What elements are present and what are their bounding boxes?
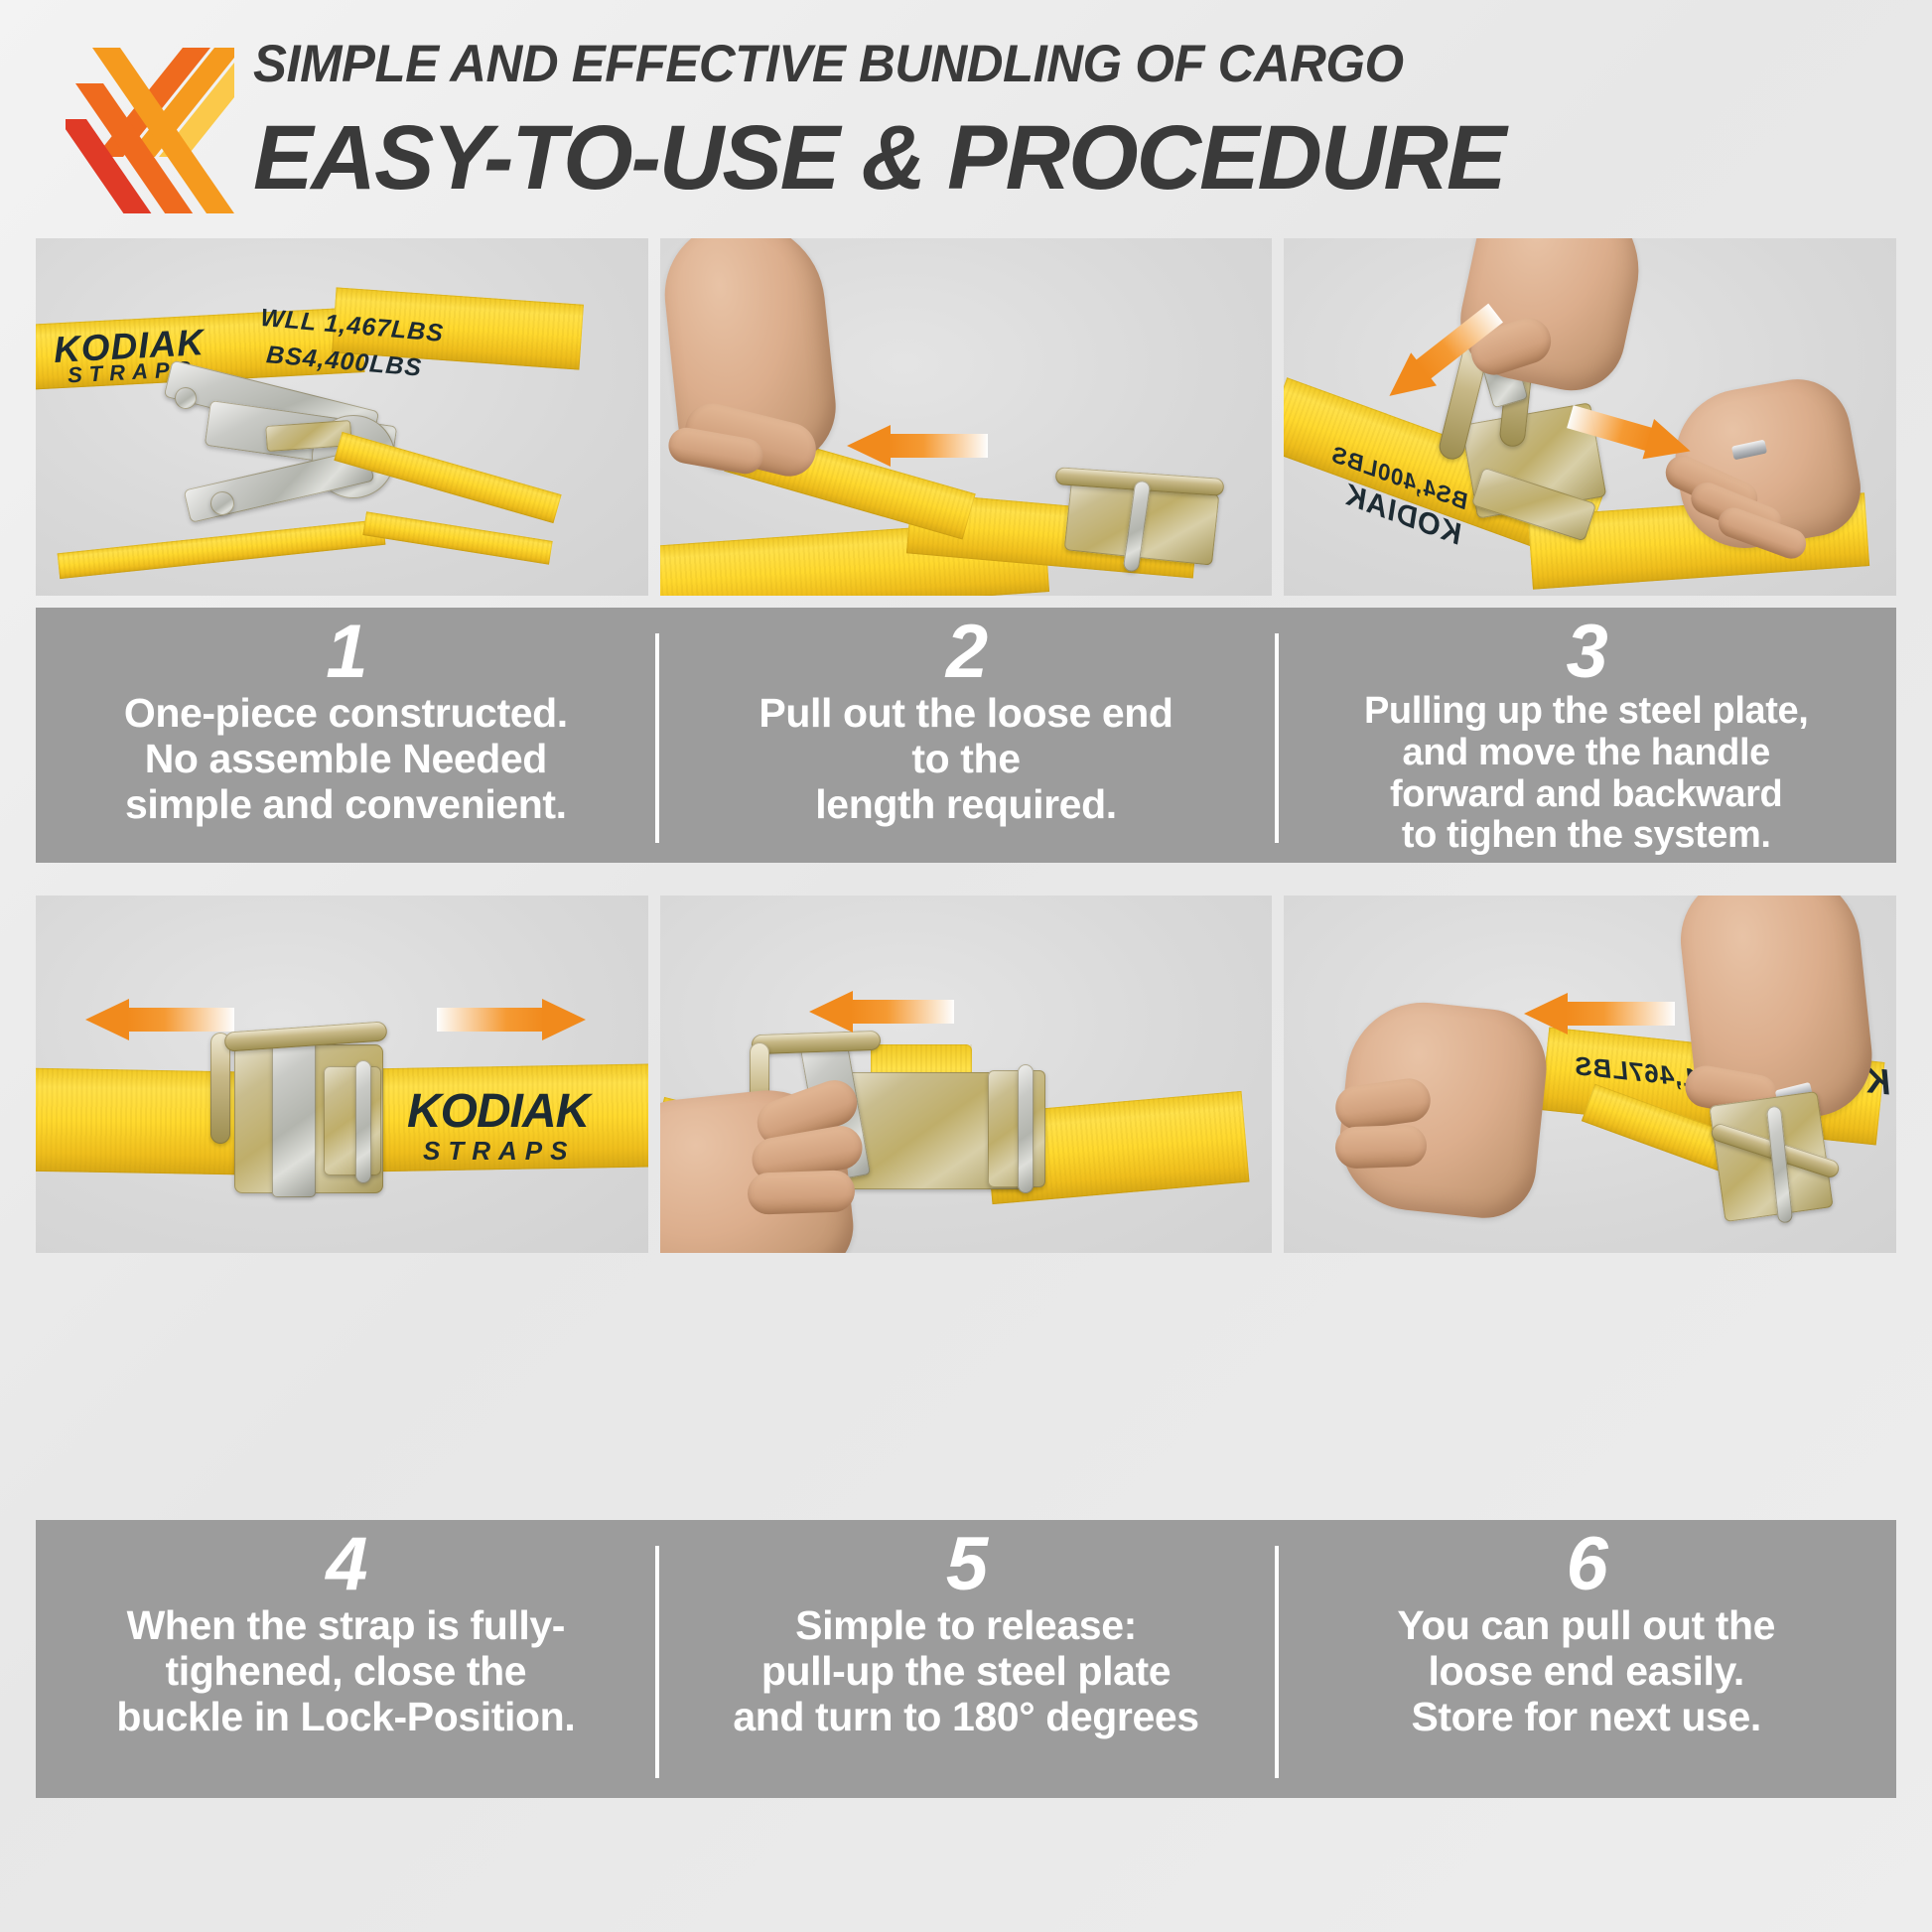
finger (747, 1170, 855, 1215)
ratchet-axle-bolt (175, 387, 197, 409)
step-number: 1 (54, 618, 638, 687)
caption-band-top: 1 One-piece constructed. No assemble Nee… (36, 608, 1896, 863)
steel-plate (272, 1035, 316, 1197)
step-number: 5 (674, 1530, 1259, 1599)
caption-step-1: 1 One-piece constructed. No assemble Nee… (36, 608, 656, 863)
step-description: Pull out the loose end to the length req… (674, 691, 1259, 828)
finger (1335, 1124, 1428, 1169)
ratchet-pin (355, 1060, 371, 1183)
caption-step-3: 3 Pulling up the steel plate, and move t… (1276, 608, 1896, 863)
kodiak-k-logo-icon (66, 40, 234, 213)
caption-step-4: 4 When the strap is fully- tighened, clo… (36, 1520, 656, 1798)
strap-webbing (362, 1063, 648, 1172)
caption-step-5: 5 Simple to release: pull-up the steel p… (656, 1520, 1277, 1798)
ratchet-axle-bolt (210, 491, 234, 515)
ratchet-pin (1018, 1064, 1034, 1193)
page-title: EASY-TO-USE & PROCEDURE (253, 112, 1896, 204)
step-description: Simple to release: pull-up the steel pla… (674, 1603, 1259, 1740)
header-kicker: SIMPLE AND EFFECTIVE BUNDLING OF CARGO (253, 38, 1855, 90)
infographic-page: SIMPLE AND EFFECTIVE BUNDLING OF CARGO E… (0, 0, 1932, 1932)
step-number: 3 (1294, 618, 1878, 687)
ratchet-drum (988, 1070, 1045, 1187)
step-description: One-piece constructed. No assemble Neede… (54, 691, 638, 828)
step-number: 4 (54, 1530, 638, 1599)
photo-row-bottom: KODIAK STRAPS (36, 896, 1896, 1253)
step-description: Pulling up the steel plate, and move the… (1294, 691, 1878, 857)
photo-row-top: KODIAK STRAPS WLL 1,467LBS BS4,400LBS (36, 238, 1896, 596)
kodiak-k-logo (66, 40, 234, 213)
photo-step-6: WLL 1,467LBS KODIAK (1284, 896, 1896, 1253)
caption-band-bottom: 4 When the strap is fully- tighened, clo… (36, 1520, 1896, 1798)
step-number: 2 (674, 618, 1259, 687)
caption-step-2: 2 Pull out the loose end to the length r… (656, 608, 1277, 863)
header: SIMPLE AND EFFECTIVE BUNDLING OF CARGO E… (0, 0, 1932, 226)
photo-step-1: KODIAK STRAPS WLL 1,467LBS BS4,400LBS (36, 238, 648, 596)
step-description: You can pull out the loose end easily. S… (1294, 1603, 1878, 1740)
step-description: When the strap is fully- tighened, close… (54, 1603, 638, 1740)
step-number: 6 (1294, 1530, 1878, 1599)
photo-step-4: KODIAK STRAPS (36, 896, 648, 1253)
photo-step-3: BS4,400LBS KODIAK (1284, 238, 1896, 596)
photo-step-2 (660, 238, 1273, 596)
caption-step-6: 6 You can pull out the loose end easily.… (1276, 1520, 1896, 1798)
photo-step-5 (660, 896, 1273, 1253)
header-text-block: SIMPLE AND EFFECTIVE BUNDLING OF CARGO E… (253, 38, 1921, 204)
ratchet-drum (324, 1066, 381, 1175)
